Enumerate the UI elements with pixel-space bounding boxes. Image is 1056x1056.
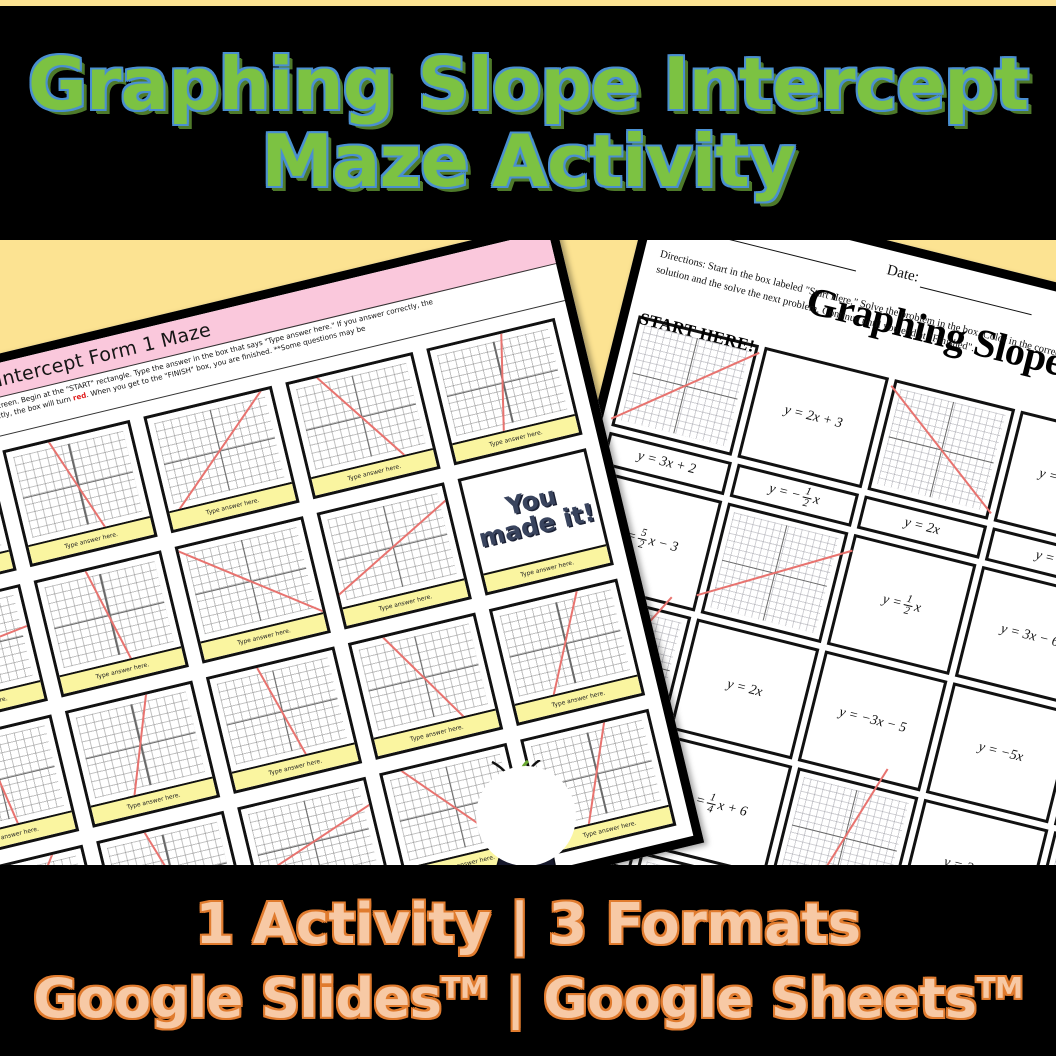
equation-tail: x <box>913 600 923 617</box>
coordinate-graph <box>500 589 630 696</box>
sheets-tm-mark: TM <box>976 972 1022 1005</box>
coordinate-graph <box>44 561 174 668</box>
equation-tail: x − 3 <box>647 534 680 557</box>
grasshopper-mascot <box>468 760 584 880</box>
maze-question-cell[interactable]: Type answer here. <box>427 318 583 465</box>
worksheet-equation-box[interactable]: y = −5x <box>926 682 1056 823</box>
bottom-info-banner: 1 Activity | 3 Formats Google SlidesTM |… <box>0 865 1056 1056</box>
maze-question-cell[interactable]: Type answer here. <box>175 516 331 663</box>
equation-text: y = 2x <box>725 677 764 701</box>
answer-placeholder: Type answer here. <box>0 826 40 846</box>
maze-question-cell[interactable]: Type answer here. <box>143 386 299 533</box>
platforms-line: Google SlidesTM | Google SheetsTM <box>33 967 1022 1030</box>
poster-stage: Graphing Slope Intercept Form 1 Maze *Zo… <box>0 0 1056 1056</box>
maze-question-cell[interactable]: Type answer here. <box>206 646 362 793</box>
maze-question-cell[interactable]: Type answer here. <box>489 578 645 725</box>
platforms-separator: | <box>487 967 543 1030</box>
fraction-denominator: 2 <box>799 498 811 511</box>
equation-text: y = −3x − 5 <box>837 705 908 737</box>
coordinate-graph <box>437 329 567 436</box>
equation-text: y = x <box>1034 548 1056 571</box>
coordinate-graph <box>13 431 143 538</box>
equation-text: y = 2x + 3 <box>782 403 843 433</box>
equation-text: y = 2x <box>903 515 942 539</box>
poster-title-line-1: Graphing Slope Intercept <box>28 49 1028 120</box>
worksheet-equation-box[interactable]: y = −3x − 5 <box>798 650 948 791</box>
equation-tail: x + 6 <box>716 798 749 821</box>
fraction-denominator: 4 <box>704 804 716 817</box>
worksheet-equation-box[interactable]: y = 2x + 3 <box>737 347 889 489</box>
mascot-circle-background <box>476 766 576 866</box>
maze-question-cell[interactable]: Type answer here. <box>316 482 472 629</box>
coordinate-graph <box>877 389 1006 510</box>
equation-text: y = 3x + 2 <box>636 448 697 478</box>
slides-tm-mark: TM <box>441 972 487 1005</box>
coordinate-graph <box>217 657 347 764</box>
top-title-banner: Graphing Slope Intercept Maze Activity <box>0 6 1056 240</box>
worksheet-graph-box[interactable] <box>701 502 849 643</box>
coordinate-graph <box>154 397 284 504</box>
equation-tail: x <box>811 492 821 509</box>
coordinate-graph <box>327 493 457 600</box>
maze-question-cell[interactable]: Type answer here. <box>0 714 79 861</box>
coordinate-graph <box>710 512 839 633</box>
maze-question-cell[interactable]: Type answer here. <box>348 612 504 759</box>
coordinate-graph <box>186 527 316 634</box>
equation-lead: y = <box>1037 466 1056 486</box>
google-slides-label: Google Slides <box>33 967 441 1030</box>
maze-question-cell[interactable]: Type answer here. <box>64 680 220 827</box>
equation-lead: y = − <box>767 481 802 504</box>
fraction-denominator: 2 <box>635 539 647 552</box>
google-sheets-label: Google Sheets <box>543 967 976 1030</box>
formats-line: 1 Activity | 3 Formats <box>195 892 860 957</box>
equation-text: y = −5x <box>977 739 1025 765</box>
coordinate-graph <box>296 363 426 470</box>
poster-title-line-2: Maze Activity <box>261 126 795 197</box>
coordinate-graph <box>75 691 205 798</box>
worksheet-equation-box[interactable]: y = 2x <box>670 618 820 759</box>
equation-text: y = 3x − 6 <box>999 621 1056 651</box>
coordinate-graph <box>358 623 488 730</box>
maze-question-cell[interactable]: Type answer here. <box>2 420 158 567</box>
worksheet-equation-box[interactable]: y = 12x <box>827 534 977 675</box>
fraction-denominator: 2 <box>900 605 912 618</box>
maze-finish-cell[interactable]: Youmade it!Type answer here. <box>458 448 614 595</box>
worksheet-graph-box[interactable] <box>867 379 1015 520</box>
maze-question-cell[interactable]: Type answer here. <box>33 550 189 697</box>
answer-placeholder: Type answer here. <box>520 559 575 579</box>
date-label: Date: <box>885 262 921 286</box>
answer-placeholder: Type answer here. <box>0 695 8 715</box>
maze-question-cell[interactable]: Type answer here. <box>285 352 441 499</box>
equation-lead: y = <box>881 592 903 612</box>
